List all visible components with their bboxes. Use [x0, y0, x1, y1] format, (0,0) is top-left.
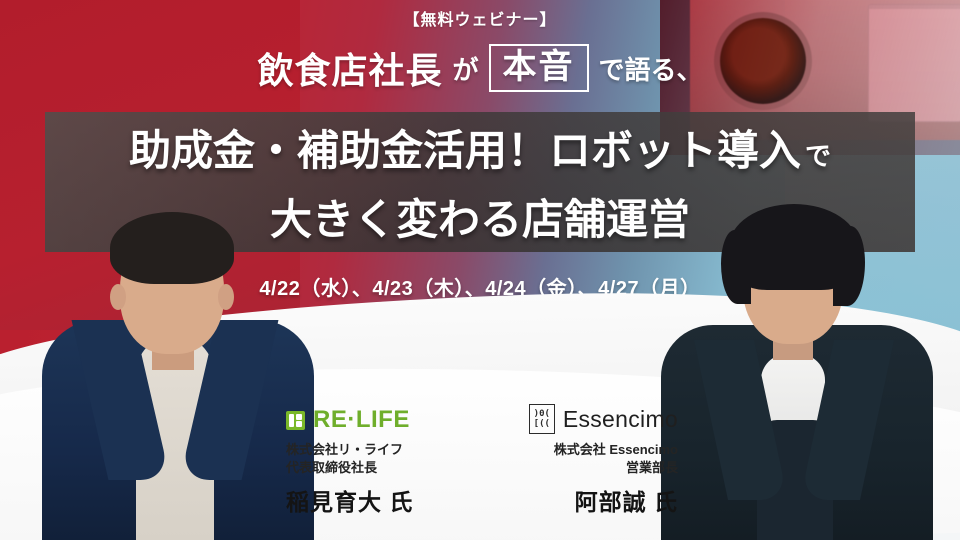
essencimo-glyph-bottom: [((	[534, 420, 550, 429]
headline-suffix: で語る、	[599, 50, 703, 87]
speaker-photo-left	[48, 210, 308, 540]
speaker-left-ear-left	[110, 284, 126, 310]
title-line-1: 助成金・補助金活用！ロボット導入 で	[129, 117, 831, 178]
speaker-left-hair	[110, 212, 234, 284]
essencimo-wordmark: Essencimo	[563, 406, 678, 433]
speaker-left-ear-right	[218, 284, 234, 310]
speaker-right-affiliation: 株式会社 Essencimo 営業部長	[529, 441, 678, 476]
title-line-1-main: 助成金・補助金活用！ロボット導入	[129, 117, 801, 178]
headline-boxed-term: 本音	[489, 44, 589, 92]
essencimo-glyph-top: )0(	[534, 410, 550, 419]
headline-particle: が	[452, 50, 478, 87]
speaker-left-affiliation: 株式会社リ・ライフ 代表取締役社長	[286, 441, 413, 476]
speaker-right-role: 営業部長	[529, 459, 678, 477]
headline-prefix: 飲食店社長	[257, 42, 442, 94]
relife-wordmark: RE·LIFE	[313, 406, 410, 434]
kicker-label: 【無料ウェビナー】	[0, 6, 960, 30]
essencimo-mark-icon: )0( [((	[529, 404, 555, 434]
relife-mark-icon	[286, 411, 305, 430]
speaker-left-company: 株式会社リ・ライフ	[286, 441, 413, 459]
title-line-2: 大きく変わる店舗運営	[270, 186, 690, 247]
webinar-banner: 【無料ウェビナー】 飲食店社長 が 本音 で語る、 助成金・補助金活用！ロボット…	[0, 0, 960, 540]
speaker-right-company: 株式会社 Essencimo	[529, 441, 678, 459]
relife-logo: RE·LIFE	[286, 406, 413, 434]
speaker-info-right: )0( [(( Essencimo 株式会社 Essencimo 営業部長 阿部…	[529, 404, 678, 517]
speaker-photo-right	[665, 210, 930, 540]
speaker-left-role: 代表取締役社長	[286, 459, 413, 477]
speaker-info-left: RE·LIFE 株式会社リ・ライフ 代表取締役社長 稲見育大 氏	[286, 406, 413, 517]
headline: 飲食店社長 が 本音 で語る、	[0, 42, 960, 94]
speaker-right-hair-side-left	[721, 230, 751, 304]
speaker-right-name: 阿部誠 氏	[529, 483, 678, 517]
essencimo-logo: )0( [(( Essencimo	[529, 404, 678, 434]
title-line-1-suffix: で	[805, 136, 831, 173]
speaker-right-hair-side-right	[833, 226, 865, 306]
speaker-left-name: 稲見育大 氏	[286, 483, 413, 517]
